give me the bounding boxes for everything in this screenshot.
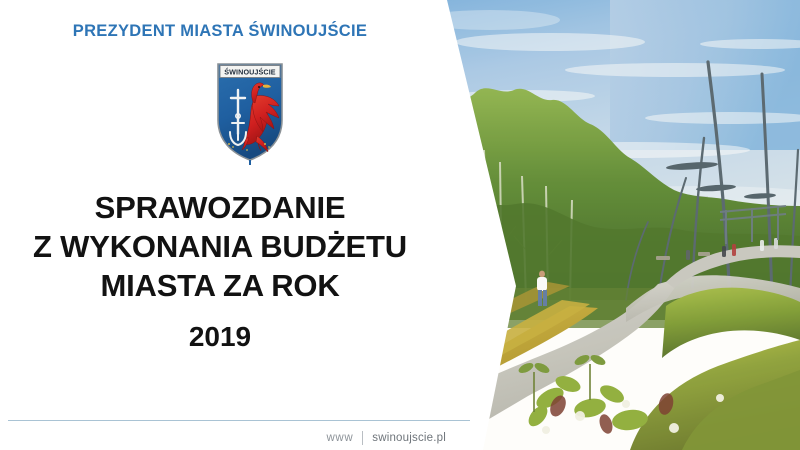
slide-content: PREZYDENT MIASTA ŚWINOUJŚCIE (0, 0, 470, 450)
footer-domain[interactable]: swinoujscie.pl (372, 432, 446, 444)
page-title: PREZYDENT MIASTA ŚWINOUJŚCIE (0, 22, 440, 41)
report-title-block: SPRAWOZDANIE Z WYKONANIA BUDŻETU MIASTA … (0, 188, 440, 353)
title-year: 2019 (0, 321, 440, 353)
footer-separator-icon (362, 431, 363, 445)
title-line-3: MIASTA ZA ROK (0, 266, 440, 305)
title-line-1: SPRAWOZDANIE (0, 188, 440, 227)
presentation-slide: PREZYDENT MIASTA ŚWINOUJŚCIE (0, 0, 800, 450)
crest-banner-text: ŚWINOUJŚCIE (224, 68, 276, 77)
coat-of-arms-icon: ŚWINOUJŚCIE (213, 58, 287, 166)
footer-divider (8, 420, 470, 421)
title-line-2: Z WYKONANIA BUDŻETU (0, 227, 440, 266)
promenade-photo (430, 0, 800, 450)
footer: www swinoujscie.pl (0, 428, 462, 448)
footer-www-label: www (327, 432, 354, 444)
